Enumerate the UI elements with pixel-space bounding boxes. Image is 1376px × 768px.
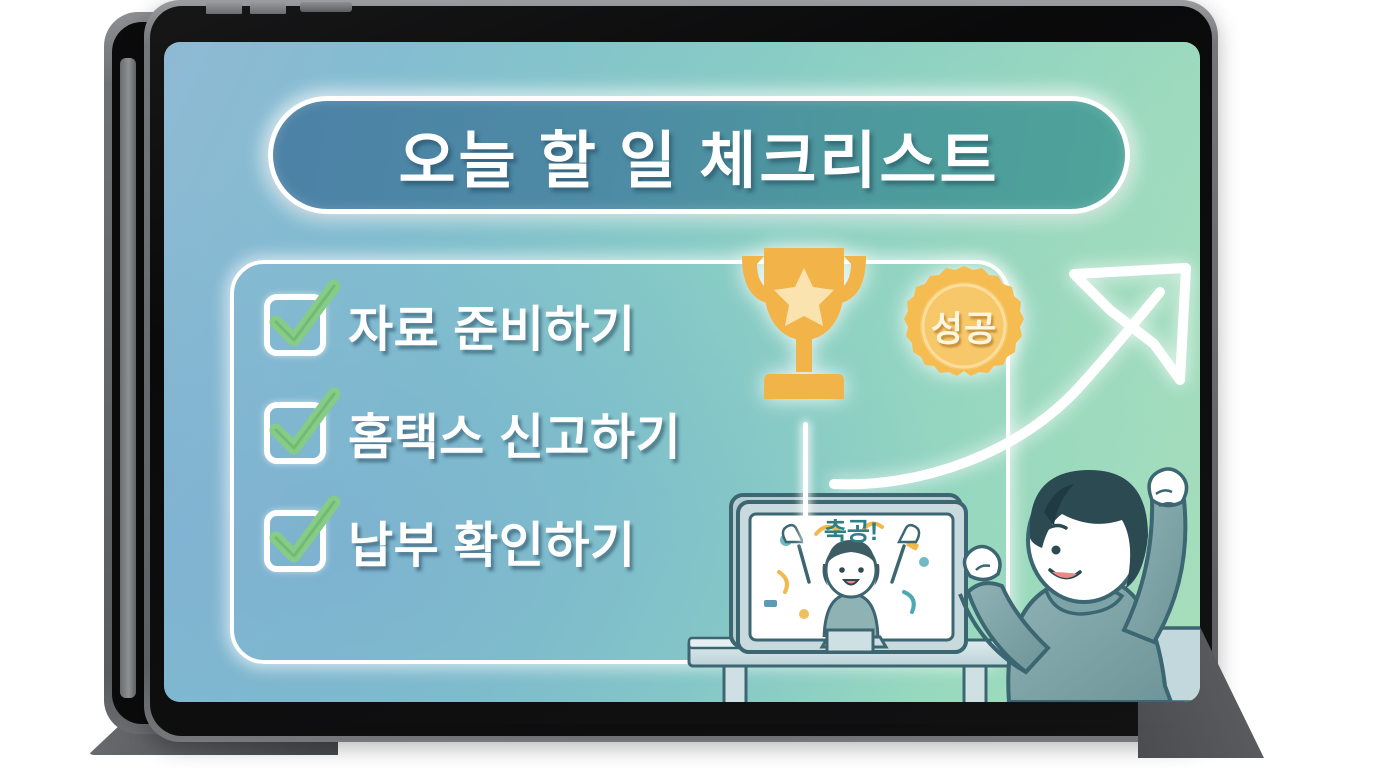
- checklist-item-label: 홈택스 신고하기: [348, 398, 681, 469]
- tablet-side-edge: [120, 58, 136, 698]
- page-title-pill: 오늘 할 일 체크리스트: [268, 96, 1130, 214]
- checklist-item-label: 자료 준비하기: [348, 290, 636, 361]
- checkbox[interactable]: [264, 510, 326, 572]
- camera-notch: [300, 2, 352, 12]
- checkbox[interactable]: [264, 294, 326, 356]
- screenshot-root: 축공!: [0, 0, 1376, 768]
- badge-label: 성공: [902, 264, 1026, 388]
- check-icon: [262, 278, 344, 360]
- check-icon: [262, 386, 344, 468]
- checklist-item[interactable]: 납부 확인하기: [264, 502, 904, 580]
- checklist: 자료 준비하기 홈택스 신고하기: [264, 286, 904, 580]
- checklist-item-label: 납부 확인하기: [348, 506, 636, 577]
- success-badge: 성공: [902, 264, 1026, 388]
- tablet-screen[interactable]: 축공!: [164, 42, 1200, 702]
- checklist-item[interactable]: 홈택스 신고하기: [264, 394, 904, 472]
- checkbox[interactable]: [264, 402, 326, 464]
- checklist-item[interactable]: 자료 준비하기: [264, 286, 904, 364]
- volume-down-button[interactable]: [250, 1, 286, 14]
- volume-up-button[interactable]: [206, 1, 242, 14]
- tablet-drop-shadow: [150, 724, 1210, 742]
- page-title: 오늘 할 일 체크리스트: [398, 110, 999, 200]
- check-icon: [262, 494, 344, 576]
